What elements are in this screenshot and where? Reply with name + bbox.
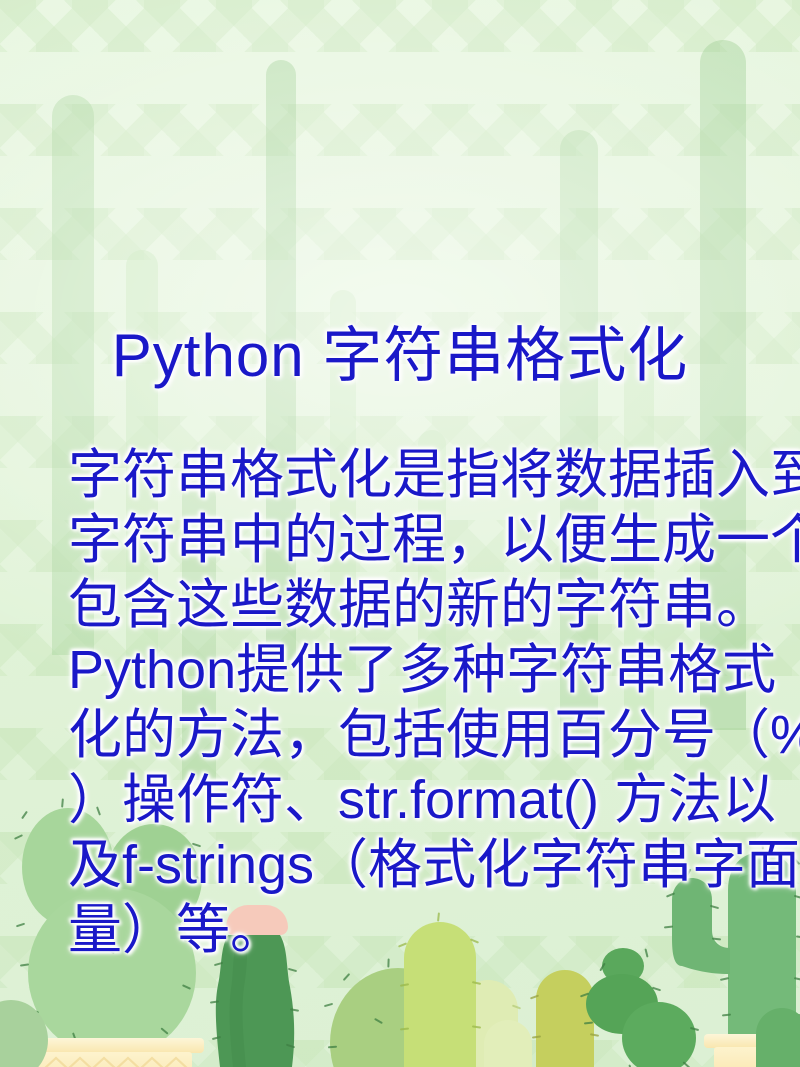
body-paragraph: 字符串格式化是指将数据插入到 字符串中的过程，以便生成一个 包含这些数据的新的字… [68, 443, 736, 963]
poster-canvas: Python 字符串格式化 字符串格式化是指将数据插入到 字符串中的过程，以便生… [0, 0, 800, 1067]
cactus-pot-left [32, 1038, 198, 1067]
body-line: ）操作符、str.format() 方法以 [68, 768, 736, 833]
body-line: 包含这些数据的新的字符串。 [68, 573, 736, 638]
small-right-cactus [756, 1008, 800, 1067]
body-line: Python提供了多种字符串格式 [68, 638, 736, 703]
body-line: 字符串中的过程，以便生成一个 [68, 508, 736, 573]
body-line: 量）等。 [68, 898, 736, 963]
small-left-cactus [0, 1000, 48, 1067]
page-title: Python 字符串格式化 [0, 318, 800, 394]
bud-cactus [484, 1020, 536, 1067]
body-line: 及f-strings（格式化字符串字面 [68, 833, 736, 898]
body-line: 化的方法，包括使用百分号（% [68, 703, 736, 768]
body-line: 字符串格式化是指将数据插入到 [68, 443, 736, 508]
